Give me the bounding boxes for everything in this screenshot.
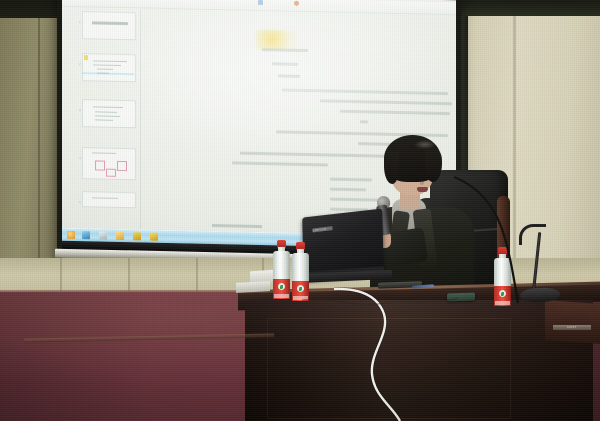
slide-bullet-line <box>330 178 372 182</box>
thumbnail-number: 3 <box>79 108 81 112</box>
word-icon[interactable] <box>133 232 141 240</box>
media-icon[interactable] <box>99 232 107 240</box>
thumbnail-number: 5 <box>79 200 81 204</box>
bottle-label <box>273 279 290 299</box>
ribbon-tab[interactable]: 切换 <box>126 0 134 1</box>
thumbnail-line <box>93 60 127 62</box>
bottle-body <box>273 251 290 290</box>
left-wall-panel <box>0 18 62 293</box>
slide-body-line <box>320 99 452 105</box>
slide-body-line <box>232 161 328 166</box>
slide-thumbnail-2[interactable]: 2 <box>82 53 136 82</box>
browser-icon[interactable] <box>82 231 90 239</box>
slide-heading-line <box>272 62 298 66</box>
mouth <box>417 187 428 192</box>
slide-body-line <box>340 110 450 115</box>
slide-body-line <box>360 120 368 123</box>
papers-stack <box>236 281 270 293</box>
wall-panel-seam <box>38 18 40 293</box>
ribbon-tab[interactable]: 动画 <box>141 0 149 2</box>
lecture-photo-scene: 文件 开始 插入 设计 切换 动画 1 2 <box>0 0 600 421</box>
wall-frame-header <box>455 0 600 16</box>
slide-thumbnail-4[interactable]: 4 <box>82 147 136 180</box>
slide-footer-text <box>212 224 262 228</box>
highlight-badge-icon <box>84 55 88 60</box>
start-icon[interactable] <box>67 231 75 239</box>
thumbnail-line <box>92 197 118 199</box>
thumbnail-line <box>93 64 121 66</box>
bottle-leaf-icon <box>297 285 304 292</box>
ribbon-tab[interactable]: 插入 <box>97 0 105 1</box>
black-cable-path <box>454 177 518 303</box>
podium-side-face <box>545 300 600 344</box>
thumbnail-line <box>95 119 113 120</box>
diagram-shape <box>117 161 127 171</box>
laptop-brand-logo: Lenovo <box>312 226 332 232</box>
bottle-body <box>292 253 309 292</box>
thumbnail-line <box>92 152 116 154</box>
thin-cable <box>300 294 460 354</box>
bottle-label-text <box>274 294 289 298</box>
slide-thumbnail-3[interactable]: 3 <box>82 99 136 128</box>
ribbon-tab[interactable]: 设计 <box>112 0 120 1</box>
diagram-shape <box>95 160 105 170</box>
slide-heading-line <box>278 74 300 77</box>
water-bottle-left <box>273 240 290 290</box>
thumbnail-line <box>95 111 117 112</box>
podium-nameplate: HOST <box>553 325 591 330</box>
ribbon-tab-row[interactable]: 文件 开始 插入 设计 切换 动画 <box>68 0 149 2</box>
thin-cable-path <box>302 298 458 305</box>
folder-icon[interactable] <box>116 232 124 240</box>
thumbnail-line <box>97 68 113 69</box>
thumbnail-line <box>95 115 120 117</box>
thumbnail-line <box>97 72 109 73</box>
save-icon[interactable] <box>258 0 263 5</box>
thumbnail-number: 2 <box>79 62 81 66</box>
thumbnail-line <box>93 106 123 108</box>
hair-side-left <box>384 151 399 184</box>
record-icon[interactable] <box>294 0 299 5</box>
slide-bullet-line <box>330 188 366 192</box>
slide-heading-line <box>262 48 308 52</box>
water-bottle-center <box>292 242 309 292</box>
slide-thumbnail-1[interactable]: 1 <box>82 11 136 40</box>
thumbnail-number: 4 <box>79 156 81 160</box>
diagram-shape <box>106 169 116 177</box>
slide-thumbnail-5[interactable]: 5 <box>82 191 136 208</box>
bottle-leaf-icon <box>278 283 285 290</box>
hair-highlight <box>414 140 436 149</box>
powerpoint-icon[interactable] <box>150 233 158 241</box>
slide-thumbnail-panel[interactable]: 1 2 3 <box>78 8 141 231</box>
black-cable <box>440 175 550 305</box>
slide-body-line <box>282 89 448 96</box>
thumbnail-title-line <box>92 21 128 25</box>
thumbnail-number: 1 <box>79 20 81 24</box>
